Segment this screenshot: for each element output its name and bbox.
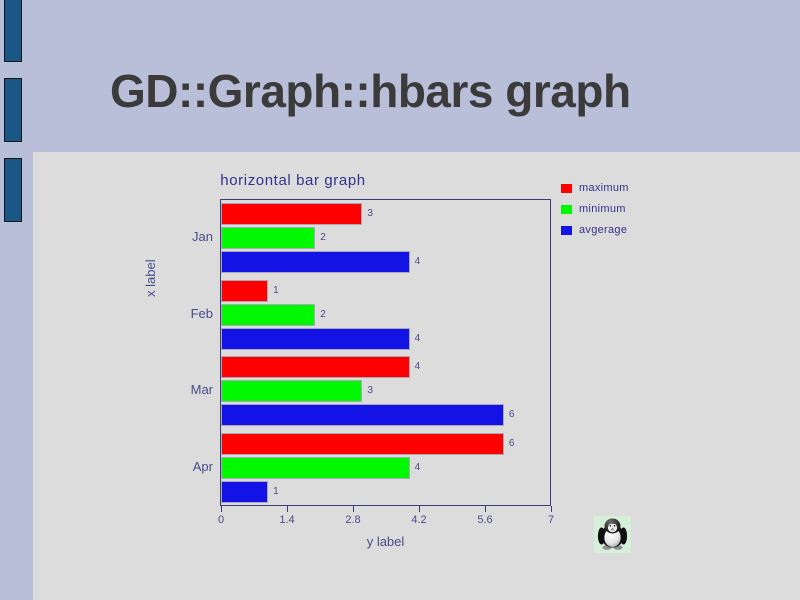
tick-mark-0 — [221, 506, 222, 512]
bar-value-jan-maximum: 3 — [367, 203, 373, 225]
bar-feb-maximum — [221, 280, 268, 302]
legend-item-maximum: maximum — [561, 178, 681, 198]
tick-mark-2 — [353, 506, 354, 512]
chart-title: horizontal bar graph — [33, 172, 553, 189]
legend-label-maximum: maximum — [579, 182, 629, 194]
tick-label-1: 1.4 — [279, 514, 294, 526]
value-axis-ticks: 01.42.84.25.67 — [221, 506, 551, 536]
tick-label-5: 7 — [548, 514, 554, 526]
value-axis-title: y label — [220, 534, 551, 549]
bar-value-mar-avgerage: 6 — [509, 404, 515, 426]
decorative-bar-2 — [4, 78, 22, 142]
bars-layer: 324124436641 — [221, 200, 551, 506]
tick-label-4: 5.6 — [477, 514, 492, 526]
bar-value-feb-minimum: 2 — [320, 304, 326, 326]
chart-legend: maximumminimumavgerage — [561, 178, 681, 241]
legend-item-avgerage: avgerage — [561, 220, 681, 240]
tick-label-0: 0 — [218, 514, 224, 526]
bar-feb-minimum — [221, 304, 315, 326]
chart-figure: horizontal bar graph x label JanFebMarAp… — [33, 152, 800, 600]
bar-jan-avgerage — [221, 251, 410, 273]
bar-value-apr-avgerage: 1 — [273, 481, 279, 503]
bar-value-apr-maximum: 6 — [509, 433, 515, 455]
decorative-bar-1 — [4, 0, 22, 62]
bar-value-feb-avgerage: 4 — [415, 328, 421, 350]
tick-label-2: 2.8 — [345, 514, 360, 526]
legend-swatch-minimum — [561, 205, 572, 214]
tick-mark-3 — [419, 506, 420, 512]
bar-value-jan-minimum: 2 — [320, 227, 326, 249]
bar-feb-avgerage — [221, 328, 410, 350]
legend-swatch-avgerage — [561, 226, 572, 235]
category-label-mar: Mar — [191, 382, 213, 397]
category-axis-labels: JanFebMarApr — [133, 200, 213, 506]
category-label-jan: Jan — [192, 229, 213, 244]
category-label-apr: Apr — [193, 459, 213, 474]
bar-value-mar-minimum: 3 — [367, 380, 373, 402]
bar-value-mar-maximum: 4 — [415, 356, 421, 378]
penguin-logo — [594, 516, 631, 553]
bar-jan-maximum — [221, 203, 362, 225]
bar-apr-avgerage — [221, 481, 268, 503]
page-title: GD::Graph::hbars graph — [110, 64, 631, 118]
tick-mark-5 — [551, 506, 552, 512]
legend-swatch-maximum — [561, 184, 572, 193]
bar-mar-maximum — [221, 356, 410, 378]
bar-apr-minimum — [221, 457, 410, 479]
content-panel: horizontal bar graph x label JanFebMarAp… — [33, 152, 800, 600]
legend-label-avgerage: avgerage — [579, 224, 627, 236]
tick-mark-4 — [485, 506, 486, 512]
tick-label-3: 4.2 — [411, 514, 426, 526]
category-label-feb: Feb — [191, 306, 213, 321]
bar-mar-minimum — [221, 380, 362, 402]
legend-label-minimum: minimum — [579, 203, 626, 215]
bar-value-jan-avgerage: 4 — [415, 251, 421, 273]
legend-item-minimum: minimum — [561, 199, 681, 219]
bar-value-feb-maximum: 1 — [273, 280, 279, 302]
bar-mar-avgerage — [221, 404, 504, 426]
penguin-icon — [594, 516, 631, 553]
bar-jan-minimum — [221, 227, 315, 249]
tick-mark-1 — [287, 506, 288, 512]
bar-apr-maximum — [221, 433, 504, 455]
bar-value-apr-minimum: 4 — [415, 457, 421, 479]
decorative-bar-3 — [4, 158, 22, 222]
